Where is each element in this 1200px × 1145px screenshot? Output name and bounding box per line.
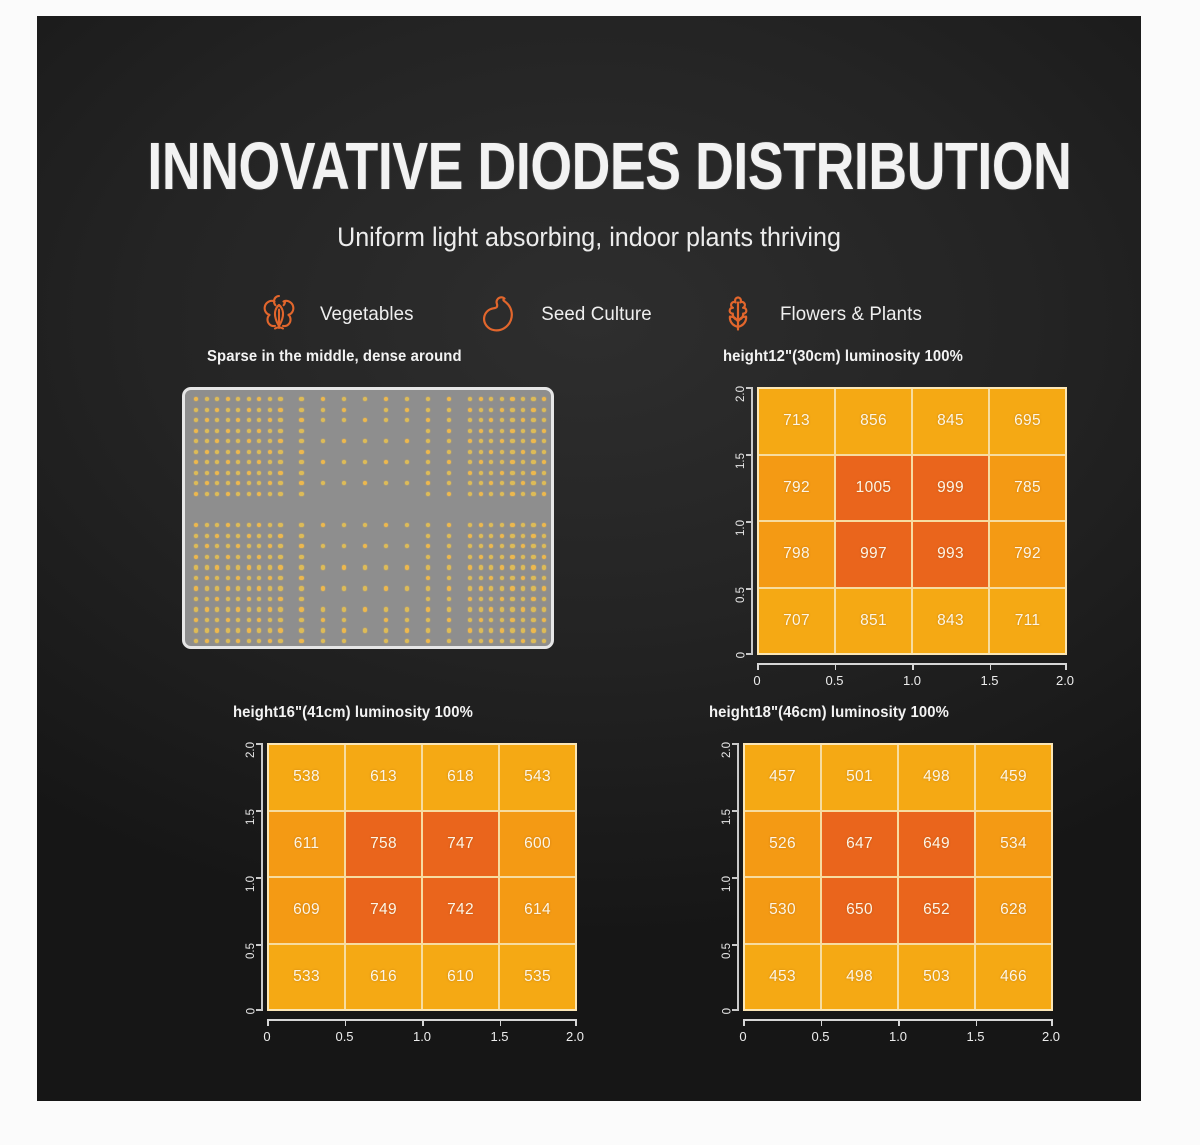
led-dot bbox=[257, 628, 261, 632]
y-tick-label: 1.5 bbox=[735, 453, 747, 469]
heatmap-cell: 749 bbox=[346, 878, 421, 943]
led-dot bbox=[257, 397, 261, 401]
heatmap-grid-height16: 5386136185436117587476006097497426145336… bbox=[267, 743, 577, 1011]
led-dot bbox=[479, 628, 483, 632]
led-dot bbox=[215, 607, 219, 611]
led-dot bbox=[447, 450, 451, 454]
led-dot bbox=[542, 544, 546, 548]
led-dot bbox=[226, 460, 230, 464]
led-dot bbox=[321, 607, 325, 611]
led-dot bbox=[205, 523, 209, 527]
led-dot bbox=[257, 523, 261, 527]
led-dot bbox=[500, 628, 504, 632]
led-dot bbox=[278, 628, 282, 632]
led-dot bbox=[384, 408, 388, 412]
x-tick bbox=[1051, 1019, 1053, 1026]
led-dot bbox=[384, 618, 388, 622]
led-dot bbox=[342, 523, 346, 527]
led-dot bbox=[489, 397, 493, 401]
led-dot bbox=[257, 607, 261, 611]
led-dot bbox=[479, 534, 483, 538]
category-icon-row: Vegetables Seed Culture bbox=[37, 288, 1141, 340]
y-tick-label: 0 bbox=[721, 1008, 733, 1014]
led-dot bbox=[236, 534, 240, 538]
led-dot bbox=[489, 628, 493, 632]
led-dot bbox=[521, 576, 525, 580]
led-dot bbox=[447, 523, 451, 527]
y-tick bbox=[256, 877, 263, 879]
y-tick-label: 1.0 bbox=[735, 520, 747, 536]
led-dot bbox=[426, 555, 430, 559]
led-dot bbox=[236, 471, 240, 475]
led-dot bbox=[247, 418, 251, 422]
led-dot bbox=[194, 460, 198, 464]
led-dot bbox=[489, 597, 493, 601]
y-tick-label: 2.0 bbox=[245, 742, 257, 758]
x-tick bbox=[422, 1019, 424, 1026]
led-dot bbox=[426, 418, 430, 422]
led-dot bbox=[521, 597, 525, 601]
led-board-title: Sparse in the middle, dense around bbox=[207, 348, 540, 366]
led-dot bbox=[342, 397, 346, 401]
led-dot bbox=[384, 607, 388, 611]
led-dot bbox=[468, 460, 472, 464]
led-dot bbox=[500, 639, 504, 643]
led-dot bbox=[278, 397, 282, 401]
led-dot bbox=[205, 565, 209, 569]
led-dot bbox=[531, 460, 535, 464]
led-dot bbox=[542, 492, 546, 496]
led-dot bbox=[531, 429, 535, 433]
led-dot bbox=[479, 418, 483, 422]
led-dot bbox=[531, 628, 535, 632]
led-dot bbox=[226, 597, 230, 601]
heatmap-cell: 713 bbox=[759, 389, 834, 454]
led-dot bbox=[257, 639, 261, 643]
led-dot bbox=[321, 618, 325, 622]
led-dot bbox=[405, 460, 409, 464]
led-dot bbox=[268, 439, 272, 443]
x-tick-label: 1.5 bbox=[980, 673, 998, 688]
led-dot bbox=[278, 586, 282, 590]
led-dot bbox=[247, 429, 251, 433]
led-dot bbox=[236, 639, 240, 643]
led-dot bbox=[542, 534, 546, 538]
led-dot bbox=[268, 418, 272, 422]
x-tick-label: 1.0 bbox=[903, 673, 921, 688]
x-tick-label: 2.0 bbox=[1056, 673, 1074, 688]
led-dot bbox=[215, 492, 219, 496]
led-dot bbox=[510, 450, 514, 454]
led-dot bbox=[479, 618, 483, 622]
led-dot bbox=[321, 439, 325, 443]
led-dot bbox=[521, 628, 525, 632]
x-tick-label: 0.5 bbox=[825, 673, 843, 688]
x-tick bbox=[1065, 663, 1067, 670]
led-dot bbox=[226, 450, 230, 454]
led-dot bbox=[194, 534, 198, 538]
led-dot bbox=[278, 565, 282, 569]
led-dot bbox=[268, 639, 272, 643]
heatmap-height18-section: height18"(46cm) luminosity 100%00.51.01.… bbox=[709, 704, 1053, 1045]
led-dot bbox=[500, 397, 504, 401]
heatmap-cell: 711 bbox=[990, 589, 1065, 654]
heatmap-cell: 845 bbox=[913, 389, 988, 454]
led-dot bbox=[205, 460, 209, 464]
led-dot bbox=[226, 429, 230, 433]
led-dot bbox=[468, 429, 472, 433]
led-dot bbox=[194, 439, 198, 443]
led-dot bbox=[247, 555, 251, 559]
led-dot bbox=[247, 597, 251, 601]
led-dot bbox=[278, 408, 282, 412]
led-dot bbox=[489, 534, 493, 538]
led-dot bbox=[510, 523, 514, 527]
category-label-seed: Seed Culture bbox=[541, 303, 651, 326]
led-dot bbox=[268, 492, 272, 496]
led-dot bbox=[426, 408, 430, 412]
led-dot bbox=[247, 397, 251, 401]
led-dot bbox=[542, 460, 546, 464]
x-tick-label: 2.0 bbox=[1042, 1029, 1060, 1044]
x-tick-label: 0.5 bbox=[335, 1029, 353, 1044]
led-dot bbox=[489, 429, 493, 433]
led-dot bbox=[447, 618, 451, 622]
led-dot bbox=[247, 439, 251, 443]
led-dot bbox=[236, 544, 240, 548]
led-dot bbox=[268, 397, 272, 401]
led-dot bbox=[384, 586, 388, 590]
led-dot bbox=[299, 397, 303, 401]
led-dot bbox=[299, 439, 303, 443]
led-dot bbox=[268, 471, 272, 475]
led-dot bbox=[447, 576, 451, 580]
x-tick bbox=[500, 1019, 502, 1026]
led-dot bbox=[479, 471, 483, 475]
led-dot bbox=[510, 586, 514, 590]
led-dot bbox=[194, 639, 198, 643]
led-dot bbox=[268, 450, 272, 454]
led-dot bbox=[226, 639, 230, 643]
heatmap-cell: 792 bbox=[990, 522, 1065, 587]
led-dot bbox=[226, 523, 230, 527]
heatmap-cell: 530 bbox=[745, 878, 820, 943]
led-dot bbox=[342, 639, 346, 643]
flower-icon bbox=[712, 288, 764, 340]
led-dot bbox=[426, 628, 430, 632]
led-dot bbox=[479, 439, 483, 443]
led-dot bbox=[384, 481, 388, 485]
led-dot bbox=[531, 544, 535, 548]
led-dot bbox=[447, 481, 451, 485]
led-dot bbox=[278, 429, 282, 433]
led-dot bbox=[468, 628, 472, 632]
led-dot bbox=[321, 418, 325, 422]
led-dot bbox=[384, 565, 388, 569]
x-tick bbox=[990, 663, 992, 670]
led-dot bbox=[226, 439, 230, 443]
led-dot bbox=[321, 565, 325, 569]
heatmap-cell: 747 bbox=[423, 812, 498, 877]
led-dot bbox=[521, 523, 525, 527]
led-dot bbox=[299, 586, 303, 590]
y-axis-height18: 00.51.01.52.0 bbox=[709, 743, 743, 1011]
led-dot bbox=[226, 565, 230, 569]
led-dot bbox=[299, 492, 303, 496]
led-dot bbox=[299, 450, 303, 454]
led-dot bbox=[236, 555, 240, 559]
led-dot bbox=[215, 460, 219, 464]
led-dot bbox=[521, 450, 525, 454]
led-dot bbox=[510, 471, 514, 475]
led-dot bbox=[268, 429, 272, 433]
led-dot bbox=[278, 492, 282, 496]
led-dot bbox=[321, 481, 325, 485]
led-dot bbox=[531, 439, 535, 443]
led-dot bbox=[468, 523, 472, 527]
led-board-section: Sparse in the middle, dense around bbox=[182, 348, 554, 649]
led-dot bbox=[342, 460, 346, 464]
led-dot bbox=[426, 544, 430, 548]
led-dot bbox=[215, 639, 219, 643]
led-dot bbox=[226, 607, 230, 611]
heatmap-cell: 613 bbox=[346, 745, 421, 810]
heatmap-cell: 616 bbox=[346, 945, 421, 1010]
led-dot bbox=[489, 460, 493, 464]
led-dot bbox=[510, 565, 514, 569]
led-dot bbox=[426, 597, 430, 601]
led-dot bbox=[468, 639, 472, 643]
led-dot bbox=[236, 576, 240, 580]
heatmap-cell: 798 bbox=[759, 522, 834, 587]
led-dot bbox=[299, 628, 303, 632]
y-tick-label: 1.5 bbox=[245, 809, 257, 825]
x-tick bbox=[835, 663, 837, 670]
led-dot bbox=[479, 397, 483, 401]
led-dot bbox=[247, 618, 251, 622]
led-dot bbox=[226, 397, 230, 401]
heatmap-cell: 742 bbox=[423, 878, 498, 943]
led-dot bbox=[268, 523, 272, 527]
heatmap-cell: 538 bbox=[269, 745, 344, 810]
led-dot bbox=[500, 408, 504, 412]
x-tick-label: 1.0 bbox=[889, 1029, 907, 1044]
led-dot bbox=[299, 460, 303, 464]
led-dot bbox=[405, 439, 409, 443]
led-dot bbox=[426, 523, 430, 527]
led-dot bbox=[194, 471, 198, 475]
led-dot bbox=[405, 639, 409, 643]
led-dot bbox=[489, 586, 493, 590]
heatmap-cell: 997 bbox=[836, 522, 911, 587]
led-dot bbox=[321, 460, 325, 464]
led-dot bbox=[215, 544, 219, 548]
led-dot bbox=[468, 481, 472, 485]
led-dot bbox=[226, 618, 230, 622]
led-dot bbox=[510, 618, 514, 622]
led-dot bbox=[226, 471, 230, 475]
led-dot bbox=[299, 429, 303, 433]
led-dot bbox=[226, 492, 230, 496]
led-dot bbox=[468, 439, 472, 443]
led-dot bbox=[342, 418, 346, 422]
heatmap-cell: 993 bbox=[913, 522, 988, 587]
x-tick bbox=[757, 663, 759, 670]
led-dot bbox=[205, 618, 209, 622]
led-dot bbox=[299, 534, 303, 538]
led-dot bbox=[257, 597, 261, 601]
led-dot bbox=[299, 471, 303, 475]
y-tick bbox=[746, 521, 753, 523]
led-dot bbox=[500, 618, 504, 622]
led-dot bbox=[500, 418, 504, 422]
led-dot bbox=[215, 481, 219, 485]
led-dot bbox=[531, 408, 535, 412]
led-dot bbox=[468, 597, 472, 601]
led-dot bbox=[521, 555, 525, 559]
x-tick-label: 1.5 bbox=[490, 1029, 508, 1044]
y-tick-label: 0.5 bbox=[245, 943, 257, 959]
led-dot bbox=[226, 418, 230, 422]
led-dot bbox=[268, 481, 272, 485]
heatmap-grid-height12: 7138568456957921005999785798997993792707… bbox=[757, 387, 1067, 655]
heatmap-cell: 647 bbox=[822, 812, 897, 877]
led-dot bbox=[321, 586, 325, 590]
led-dot bbox=[468, 450, 472, 454]
led-dot bbox=[521, 639, 525, 643]
led-dot bbox=[257, 618, 261, 622]
led-dot bbox=[268, 544, 272, 548]
led-dot bbox=[510, 597, 514, 601]
led-dot bbox=[479, 481, 483, 485]
led-dot bbox=[521, 460, 525, 464]
led-dot bbox=[468, 534, 472, 538]
led-dot bbox=[268, 565, 272, 569]
led-dot bbox=[299, 576, 303, 580]
led-dot bbox=[257, 450, 261, 454]
led-dot bbox=[447, 639, 451, 643]
led-dot bbox=[236, 492, 240, 496]
x-tick-label: 1.0 bbox=[413, 1029, 431, 1044]
led-dot bbox=[447, 471, 451, 475]
led-dot bbox=[236, 450, 240, 454]
led-dot bbox=[194, 418, 198, 422]
heatmap-cell: 609 bbox=[269, 878, 344, 943]
led-dot bbox=[215, 597, 219, 601]
led-dot bbox=[257, 534, 261, 538]
led-dot bbox=[342, 439, 346, 443]
led-dot bbox=[489, 408, 493, 412]
led-dot bbox=[426, 607, 430, 611]
y-tick bbox=[746, 454, 753, 456]
led-dot bbox=[236, 597, 240, 601]
led-dot bbox=[510, 439, 514, 443]
heatmap-title-height16: height16"(41cm) luminosity 100% bbox=[233, 704, 563, 722]
led-dot bbox=[215, 555, 219, 559]
led-dot bbox=[405, 607, 409, 611]
heatmap-cell: 758 bbox=[346, 812, 421, 877]
led-dot bbox=[257, 418, 261, 422]
heatmap-cell: 453 bbox=[745, 945, 820, 1010]
x-tick-label: 0 bbox=[263, 1029, 270, 1044]
led-dot bbox=[510, 460, 514, 464]
led-dot bbox=[205, 576, 209, 580]
y-tick bbox=[732, 944, 739, 946]
led-dot bbox=[205, 586, 209, 590]
heatmap-cell: 535 bbox=[500, 945, 575, 1010]
led-dot bbox=[384, 397, 388, 401]
y-tick bbox=[732, 877, 739, 879]
led-dot bbox=[384, 523, 388, 527]
led-dot bbox=[500, 481, 504, 485]
led-dot bbox=[542, 565, 546, 569]
led-dot bbox=[299, 481, 303, 485]
heatmap-cell: 533 bbox=[269, 945, 344, 1010]
led-dot bbox=[447, 628, 451, 632]
led-dot bbox=[531, 481, 535, 485]
led-dot bbox=[278, 418, 282, 422]
led-dot bbox=[521, 492, 525, 496]
led-dot bbox=[205, 450, 209, 454]
led-dot bbox=[542, 408, 546, 412]
led-dot bbox=[531, 397, 535, 401]
led-dot bbox=[542, 607, 546, 611]
led-dot bbox=[405, 408, 409, 412]
heatmap-cell: 543 bbox=[500, 745, 575, 810]
x-tick-label: 0 bbox=[753, 673, 760, 688]
led-dot bbox=[257, 576, 261, 580]
led-dot bbox=[426, 565, 430, 569]
led-dot bbox=[226, 555, 230, 559]
led-dot bbox=[299, 555, 303, 559]
heatmap-cell: 1005 bbox=[836, 456, 911, 521]
led-dot bbox=[215, 408, 219, 412]
led-dot bbox=[521, 565, 525, 569]
led-dot bbox=[489, 555, 493, 559]
led-dot bbox=[489, 439, 493, 443]
led-dot bbox=[542, 397, 546, 401]
led-dot bbox=[226, 544, 230, 548]
led-dot bbox=[321, 408, 325, 412]
led-dot bbox=[489, 576, 493, 580]
led-dot bbox=[236, 397, 240, 401]
led-dot bbox=[278, 576, 282, 580]
led-dot bbox=[236, 618, 240, 622]
led-dot bbox=[278, 555, 282, 559]
led-dot bbox=[510, 555, 514, 559]
led-dot bbox=[299, 565, 303, 569]
led-dot bbox=[321, 628, 325, 632]
led-dot bbox=[321, 544, 325, 548]
led-dot bbox=[479, 555, 483, 559]
led-dot bbox=[405, 565, 409, 569]
led-dot bbox=[278, 523, 282, 527]
led-dot bbox=[194, 492, 198, 496]
y-tick bbox=[746, 588, 753, 590]
led-dot bbox=[205, 492, 209, 496]
led-dot bbox=[531, 492, 535, 496]
led-dot bbox=[521, 418, 525, 422]
led-dot bbox=[257, 460, 261, 464]
heatmap-cell: 792 bbox=[759, 456, 834, 521]
led-dot bbox=[342, 586, 346, 590]
led-dot bbox=[384, 439, 388, 443]
led-dot bbox=[479, 429, 483, 433]
led-dot bbox=[215, 586, 219, 590]
led-dot bbox=[299, 639, 303, 643]
led-dot bbox=[468, 576, 472, 580]
led-dot bbox=[542, 576, 546, 580]
